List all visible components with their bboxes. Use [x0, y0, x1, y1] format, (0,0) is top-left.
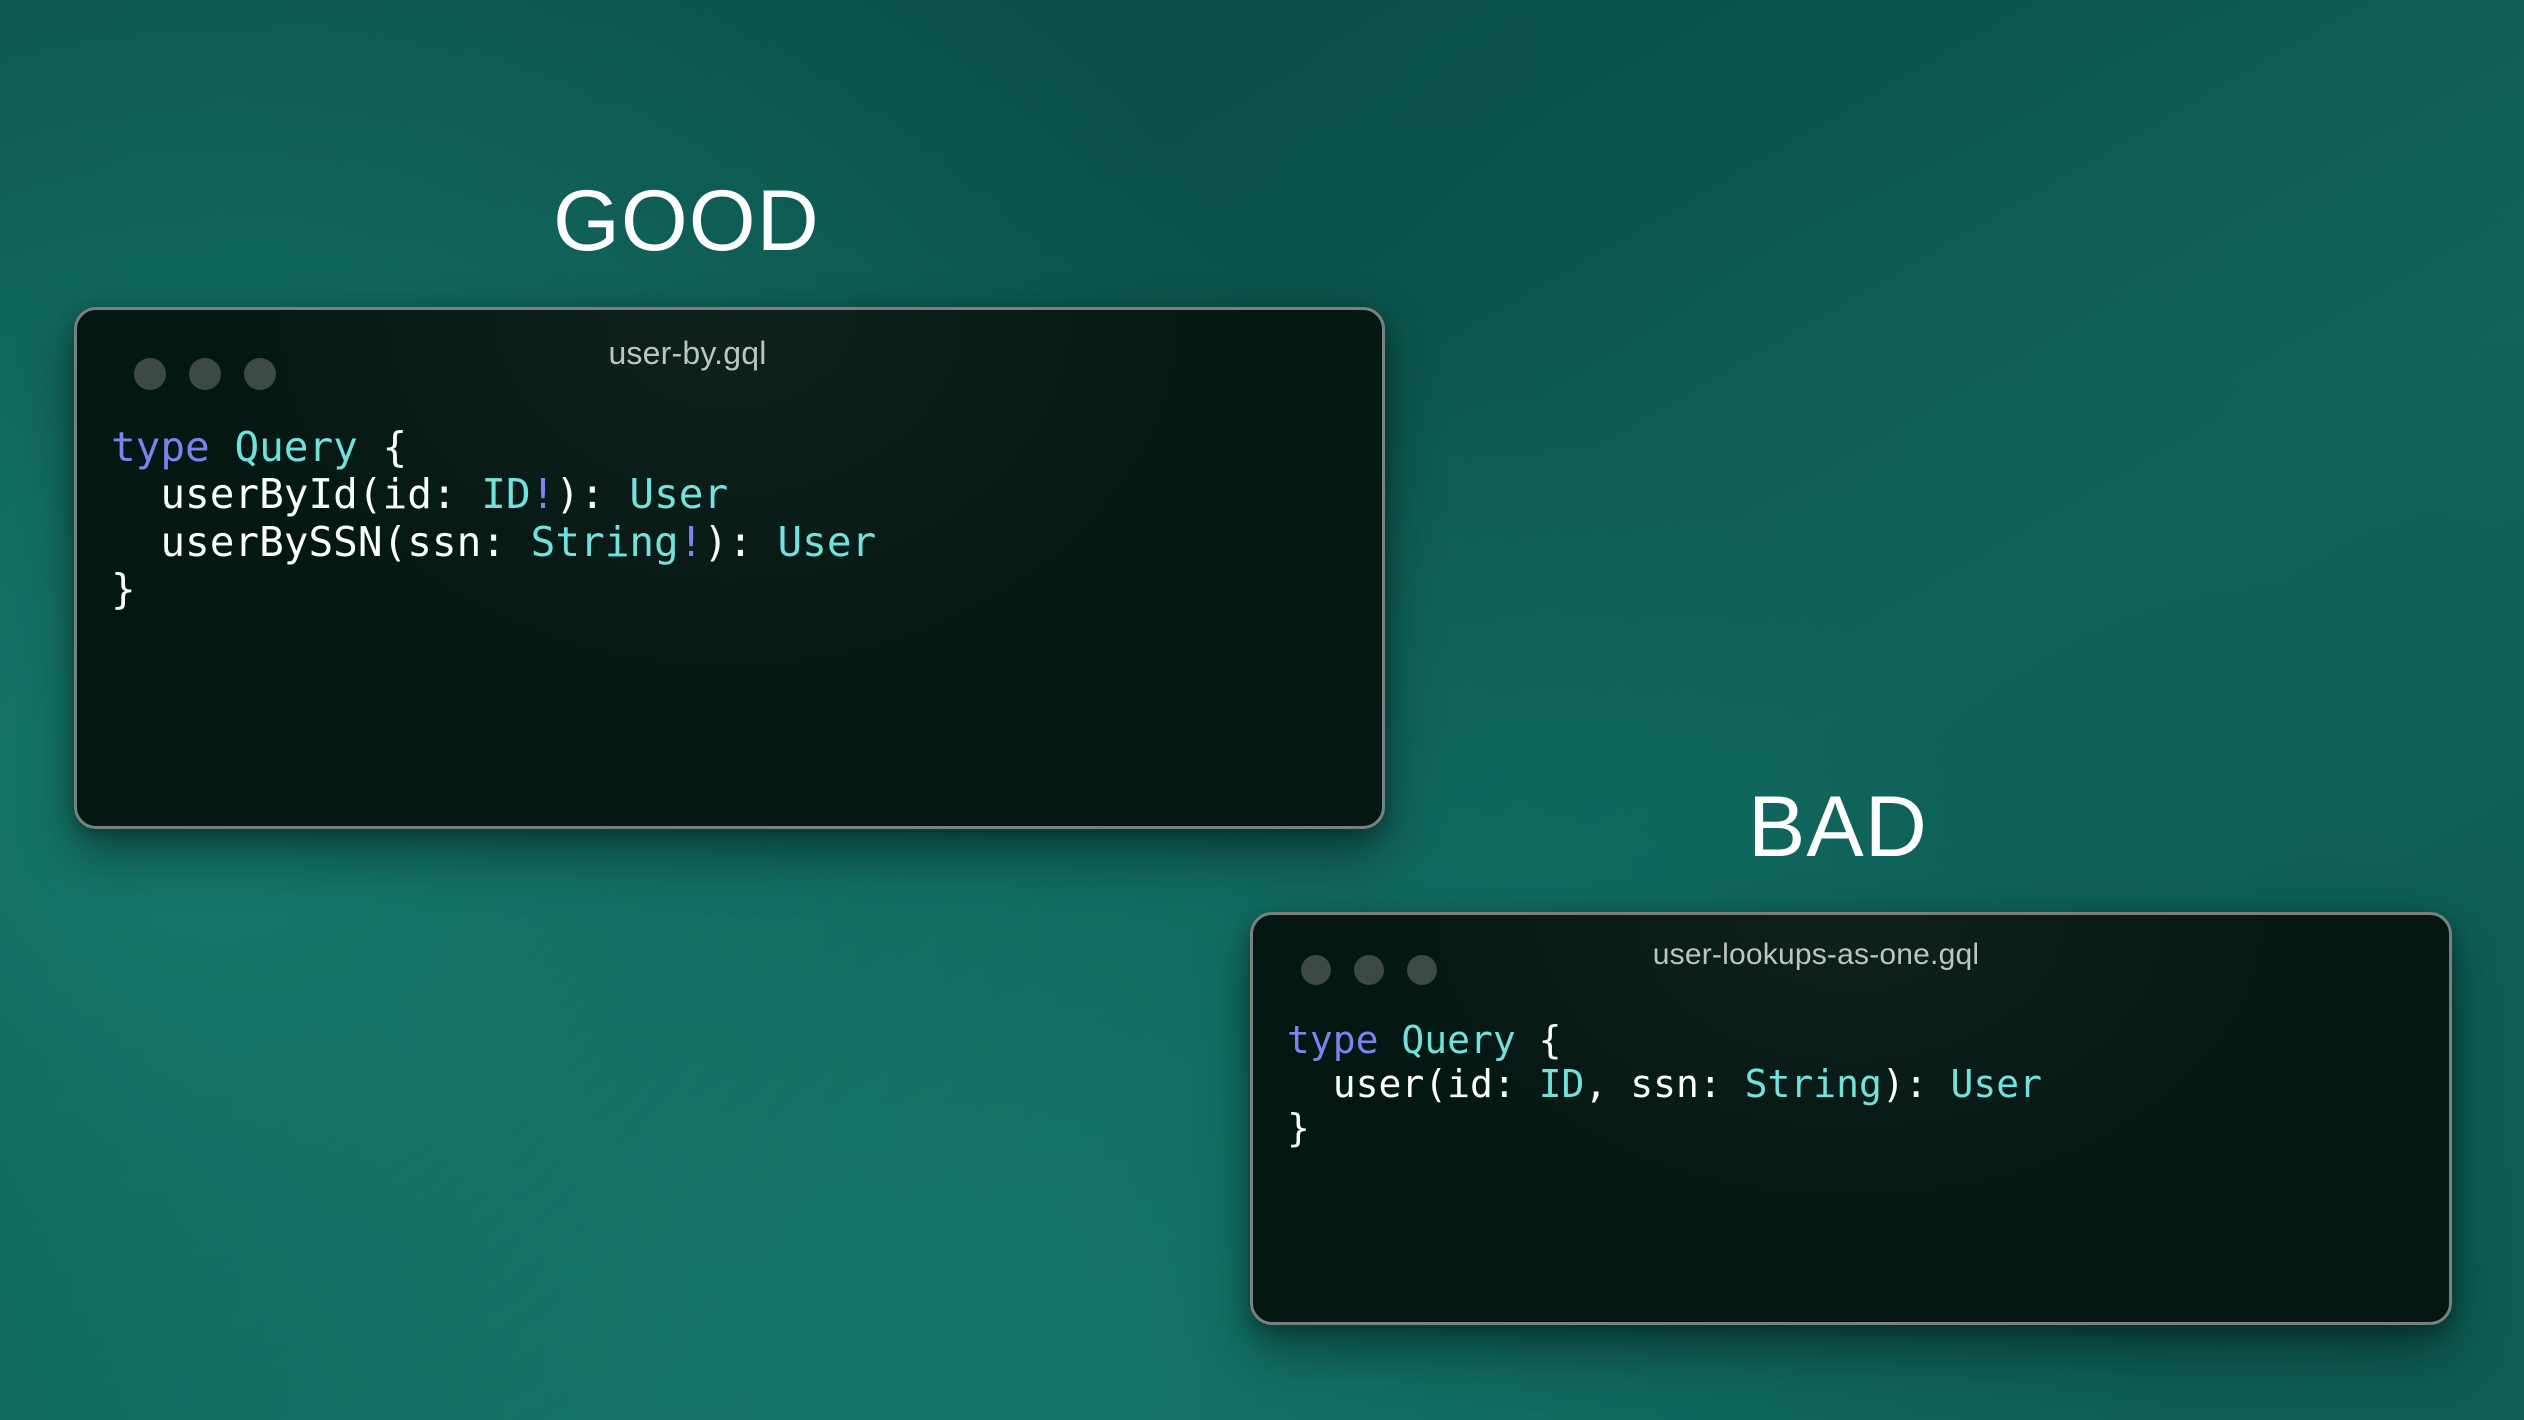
close-dot-icon[interactable] — [134, 358, 166, 390]
code-token-punctuation — [210, 423, 235, 471]
code-token-type: Query — [234, 423, 357, 471]
code-token-type: User — [629, 470, 728, 518]
code-token-type: String — [531, 518, 679, 566]
code-token-type: ID — [1539, 1062, 1585, 1106]
maximize-dot-icon[interactable] — [244, 358, 276, 390]
code-token-type: ID — [481, 470, 530, 518]
code-token-keyword: type — [1287, 1018, 1379, 1062]
good-label: GOOD — [553, 178, 820, 264]
slide-canvas: GOOD user-by.gql type Query { userById(i… — [0, 0, 2524, 1420]
code-token-identifier: , ssn: — [1584, 1062, 1744, 1106]
code-window-bad: user-lookups-as-one.gql type Query { use… — [1250, 912, 2452, 1325]
code-token-identifier: userById(id: — [111, 470, 481, 518]
code-token-punctuation: { — [1516, 1018, 1562, 1062]
titlebar-good: user-by.gql — [77, 310, 1382, 396]
code-token-keyword: type — [111, 423, 210, 471]
code-token-punctuation — [1379, 1018, 1402, 1062]
code-token-identifier: userBySSN(ssn: — [111, 518, 531, 566]
code-token-type: Query — [1401, 1018, 1515, 1062]
titlebar-bad: user-lookups-as-one.gql — [1253, 915, 2449, 995]
code-token-punctuation: } — [111, 565, 136, 613]
code-token-punctuation: ): — [1882, 1062, 1951, 1106]
traffic-lights-bad — [1301, 955, 1437, 985]
code-token-punctuation: ): — [703, 518, 777, 566]
maximize-dot-icon[interactable] — [1407, 955, 1437, 985]
code-token-non_null_bang: ! — [531, 470, 556, 518]
code-token-punctuation: } — [1287, 1106, 1310, 1150]
minimize-dot-icon[interactable] — [189, 358, 221, 390]
code-token-punctuation: ): — [555, 470, 629, 518]
code-token-type: User — [778, 518, 877, 566]
code-block-bad: type Query { user(id: ID, ssn: String): … — [1253, 995, 2449, 1151]
code-token-type: User — [1951, 1062, 2043, 1106]
minimize-dot-icon[interactable] — [1354, 955, 1384, 985]
bad-label: BAD — [1748, 784, 1928, 870]
traffic-lights-good — [134, 358, 276, 390]
close-dot-icon[interactable] — [1301, 955, 1331, 985]
code-token-type: String — [1745, 1062, 1882, 1106]
code-window-good: user-by.gql type Query { userById(id: ID… — [74, 307, 1385, 829]
code-token-identifier: user(id: — [1287, 1062, 1539, 1106]
code-token-non_null_bang: ! — [679, 518, 704, 566]
code-block-good: type Query { userById(id: ID!): User use… — [77, 396, 1382, 613]
code-token-punctuation: { — [358, 423, 407, 471]
